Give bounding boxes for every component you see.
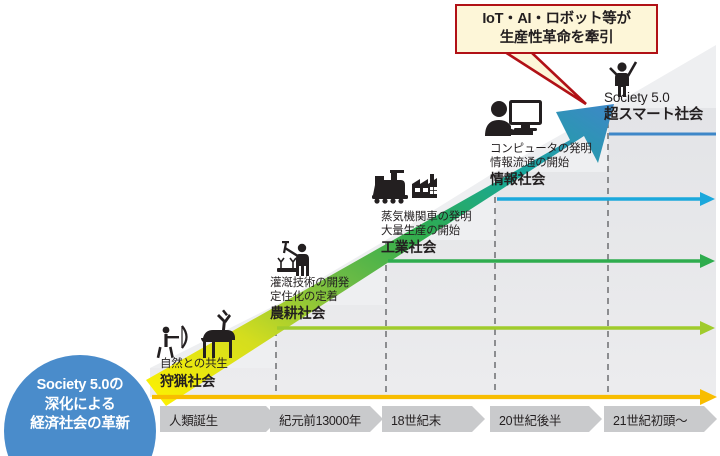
timeline-chip-industry: 18世紀末 (382, 406, 472, 432)
stage-sub-hunting-1: 自然との共生 (160, 358, 228, 372)
stage-title-agriculture: 農耕社会 (270, 305, 349, 322)
stage-title-society5: 超スマート社会 (604, 107, 703, 124)
callout-pointer (505, 46, 586, 104)
timeline-chip-agriculture: 紀元前13000年 (270, 406, 370, 432)
timeline-chip-information: 20世紀後半 (490, 406, 589, 432)
stage-sub-industry-2: 大量生産の開始 (381, 225, 471, 239)
stage-label-industry: 蒸気機関車の発明 大量生産の開始 工業社会 (381, 211, 471, 256)
farmer-hoe-icon (277, 241, 309, 276)
locomotive-factory-icon (372, 170, 437, 204)
timeline-chip-society5: 21世紀初頭〜 (604, 406, 704, 432)
stage-title-hunting: 狩猟社会 (160, 373, 228, 390)
society-5-0-infographic: IoT・AI・ロボット等が 生産性革命を牽引 自然との共生 狩猟社会 灌漑技術の… (0, 0, 720, 456)
stage-title-information: 情報社会 (490, 171, 592, 188)
stage-sub-information-1: コンピュータの発明 (490, 143, 592, 157)
stage-sub-agriculture-2: 定住化の定着 (270, 291, 349, 305)
callout-line-2: 生産性革命を牽引 (500, 29, 614, 48)
callout-line-1: IoT・AI・ロボット等が (482, 10, 630, 29)
stage-sub-industry-1: 蒸気機関車の発明 (381, 211, 471, 225)
badge-line-1: Society 5.0の (37, 376, 124, 396)
stage-label-society5: Society 5.0 超スマート社会 (604, 90, 703, 124)
stage-label-information: コンピュータの発明 情報流通の開始 情報社会 (490, 143, 592, 188)
callout-box: IoT・AI・ロボット等が 生産性革命を牽引 (455, 4, 658, 54)
timeline-chip-hunting: 人類誕生 (160, 406, 266, 432)
person-computer-icon (485, 100, 542, 136)
stage-label-hunting: 自然との共生 狩猟社会 (160, 358, 228, 389)
stage-sub-agriculture-1: 灌漑技術の開発 (270, 277, 349, 291)
badge-line-3: 経済社会の革新 (30, 415, 129, 435)
stage-sub-information-2: 情報流通の開始 (490, 157, 592, 171)
badge-line-2: 深化による (45, 396, 116, 416)
stage-title-industry: 工業社会 (381, 239, 471, 256)
stage-name-society5: Society 5.0 (604, 90, 703, 106)
stage-label-agriculture: 灌漑技術の開発 定住化の定着 農耕社会 (270, 277, 349, 322)
